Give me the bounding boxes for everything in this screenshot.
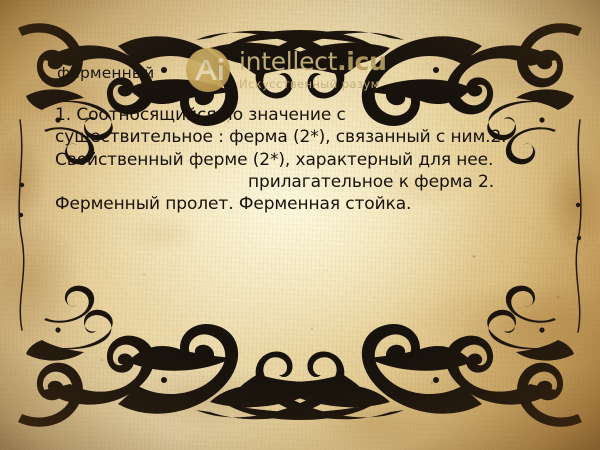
definition-line: существительное : ферма (2*), связанный … [55,126,550,148]
dictionary-entry: ферменный 1. Соотносящийся по значение с… [0,0,600,450]
parchment-slide: intellect.icu Искусственный разум фермен… [0,0,600,450]
entry-headword: ферменный [57,64,154,82]
definition-line: Ферменный пролет. Ферменная стойка. [55,193,550,215]
entry-definition: 1. Соотносящийся по значение ссуществите… [55,104,550,215]
definition-line: Свойственный ферме (2*), характерный для… [55,149,550,171]
definition-line: 1. Соотносящийся по значение с [55,104,550,126]
definition-line: прилагательное к ферма 2. [55,171,550,193]
